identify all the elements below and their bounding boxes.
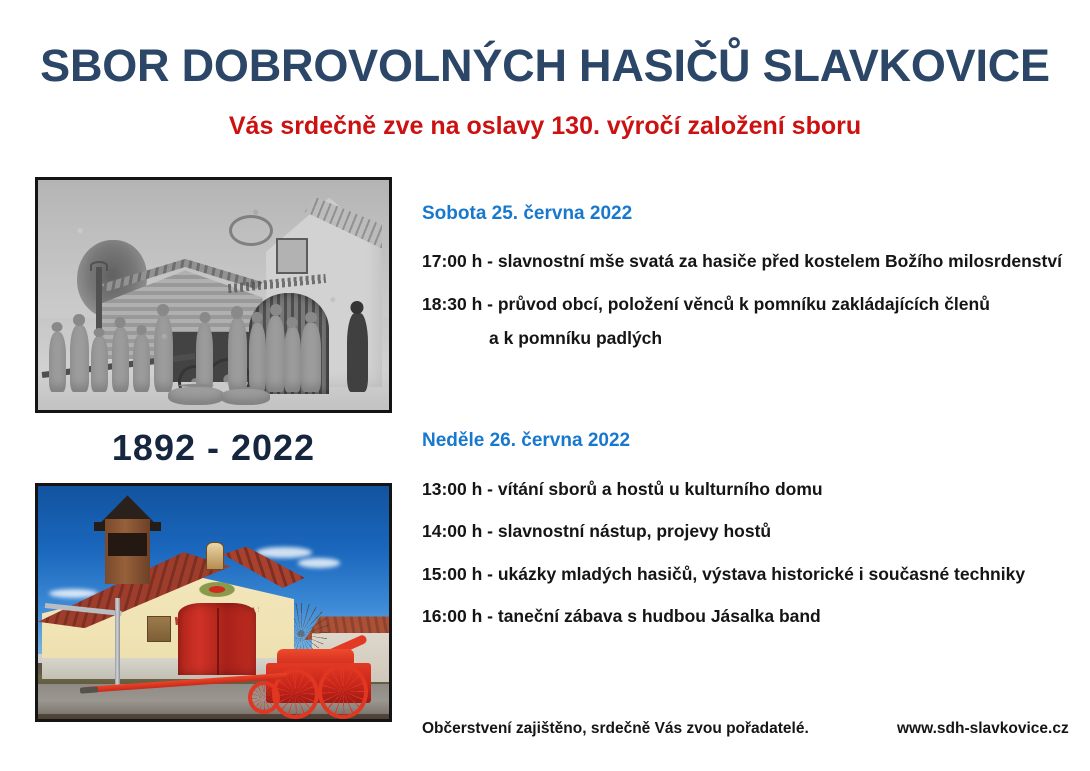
current-wall-niche: [206, 542, 224, 570]
years-caption: 1892 - 2022: [35, 427, 392, 469]
current-cloud: [298, 558, 340, 567]
current-red-garage-door: [178, 603, 255, 675]
schedule-item-sunday-1500: 15:00 h - ukázky mladých hasičů, výstava…: [422, 564, 1025, 585]
schedule-day-heading-saturday: Sobota 25. června 2022: [422, 203, 632, 225]
historic-photo-grain: [38, 180, 389, 410]
schedule-item-sunday-1400: 14:00 h - slavnostní nástup, projevy hos…: [422, 521, 771, 542]
current-hose-nozzle: [80, 686, 98, 693]
current-downpipe: [115, 598, 120, 687]
historic-photo-artwork: [38, 180, 389, 410]
footer-refreshments-note: Občerstvení zajištěno, srdečně Vás zvou …: [422, 720, 809, 738]
current-cloud: [49, 589, 98, 598]
schedule-item-saturday-1830-continued: a k pomníku padlých: [489, 328, 662, 349]
current-memorial-plaque: [147, 616, 172, 642]
current-pump-wheel: [318, 664, 368, 719]
footer-website: www.sdh-slavkovice.cz: [897, 720, 1069, 738]
historic-brigade-photo: [35, 177, 392, 413]
schedule-item-sunday-1300: 13:00 h - vítání sborů a hostů u kulturn…: [422, 479, 823, 500]
schedule-item-saturday-1700: 17:00 h - slavnostní mše svatá za hasiče…: [422, 251, 1062, 272]
schedule-item-saturday-1830: 18:30 h - průvod obcí, položení věnců k …: [422, 294, 990, 315]
current-photo-artwork: [38, 486, 389, 719]
current-fire-station-photo: [35, 483, 392, 722]
schedule-day-heading-sunday: Neděle 26. června 2022: [422, 430, 630, 452]
poster-root: SBOR DOBROVOLNÝCH HASIČŮ SLAVKOVICE Vás …: [0, 0, 1090, 771]
poster-subtitle: Vás srdečně zve na oslavy 130. výročí za…: [0, 113, 1090, 141]
poster-title: SBOR DOBROVOLNÝCH HASIČŮ SLAVKOVICE: [0, 42, 1090, 89]
current-bell-opening: [108, 533, 147, 556]
current-wall-emblem: [192, 579, 241, 600]
schedule-item-sunday-1600: 16:00 h - taneční zábava s hudbou Jásalk…: [422, 606, 821, 627]
